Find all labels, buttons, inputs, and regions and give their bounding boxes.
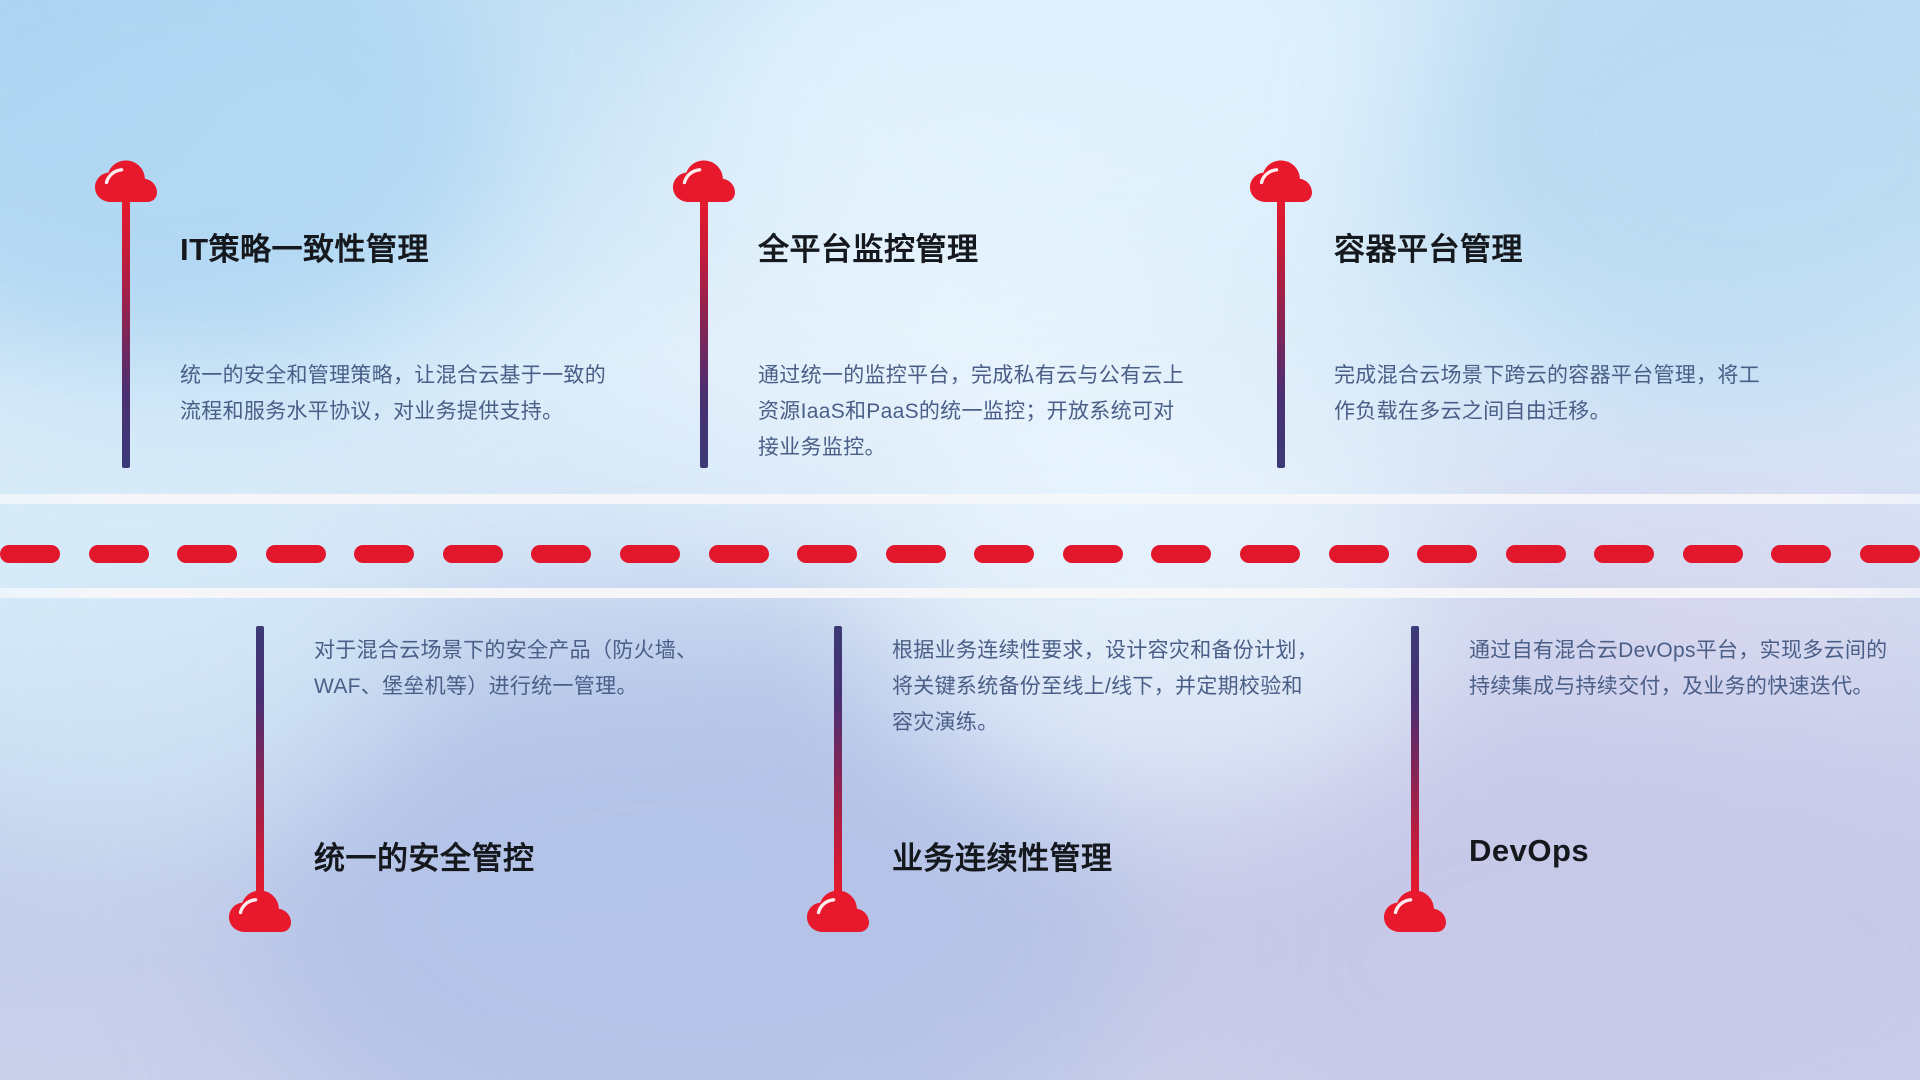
top-item-1-description: 统一的安全和管理策略，让混合云基于一致的流程和服务水平协议，对业务提供支持。	[180, 358, 612, 430]
road-dash	[1240, 545, 1300, 563]
road-dash	[1151, 545, 1211, 563]
top-item-3-description: 完成混合云场景下跨云的容器平台管理，将工作负载在多云之间自由迁移。	[1334, 358, 1766, 430]
road-dash	[1771, 545, 1831, 563]
cloud-icon	[1383, 890, 1447, 934]
background-blob	[0, 0, 520, 380]
road-dash	[1063, 545, 1123, 563]
bottom-item-3-title: DevOps	[1469, 833, 1589, 869]
timeline-bar	[834, 626, 842, 898]
road-dash	[1594, 545, 1654, 563]
road-dash	[0, 545, 60, 563]
road-edge-top	[0, 494, 1920, 504]
road-dash	[709, 545, 769, 563]
road-dash	[89, 545, 149, 563]
top-item-2-description: 通过统一的监控平台，完成私有云与公有云上资源IaaS和PaaS的统一监控；开放系…	[758, 358, 1190, 466]
background-blob	[0, 420, 400, 840]
timeline-bar	[700, 196, 708, 468]
road-dash	[1683, 545, 1743, 563]
road-dash	[177, 545, 237, 563]
cloud-icon	[228, 890, 292, 934]
cloud-icon	[806, 890, 870, 934]
road-dash	[1417, 545, 1477, 563]
road-dash	[1860, 545, 1920, 563]
bottom-item-2-title: 业务连续性管理	[892, 833, 1113, 878]
road-dash	[354, 545, 414, 563]
road-dash	[1506, 545, 1566, 563]
timeline-bar	[1411, 626, 1419, 898]
timeline-bar	[256, 626, 264, 898]
road-dash	[1329, 545, 1389, 563]
road-dash	[531, 545, 591, 563]
top-item-3-title: 容器平台管理	[1334, 224, 1523, 269]
dashed-road-divider	[0, 545, 1920, 563]
timeline-bar	[1277, 196, 1285, 468]
road-dash	[266, 545, 326, 563]
timeline-bar	[122, 196, 130, 468]
road-edge-bottom	[0, 588, 1920, 598]
bottom-item-3-description: 通过自有混合云DevOps平台，实现多云间的持续集成与持续交付，及业务的快速迭代…	[1469, 633, 1901, 705]
road-dash	[620, 545, 680, 563]
bottom-item-1-title: 统一的安全管控	[314, 833, 535, 878]
road-dash	[443, 545, 503, 563]
bottom-item-2-description: 根据业务连续性要求，设计容灾和备份计划，将关键系统备份至线上/线下，并定期校验和…	[892, 633, 1324, 741]
infographic-canvas: IT策略一致性管理 统一的安全和管理策略，让混合云基于一致的流程和服务水平协议，…	[0, 0, 1920, 1080]
top-item-1-title: IT策略一致性管理	[180, 224, 429, 269]
road-dash	[797, 545, 857, 563]
top-item-2-title: 全平台监控管理	[758, 224, 979, 269]
background-blob	[1180, 700, 1920, 1080]
background-blob	[880, 430, 1440, 810]
road-dash	[974, 545, 1034, 563]
road-dash	[886, 545, 946, 563]
background-blob	[1420, 0, 1920, 400]
bottom-item-1-description: 对于混合云场景下的安全产品（防火墙、WAF、堡垒机等）进行统一管理。	[314, 633, 746, 705]
